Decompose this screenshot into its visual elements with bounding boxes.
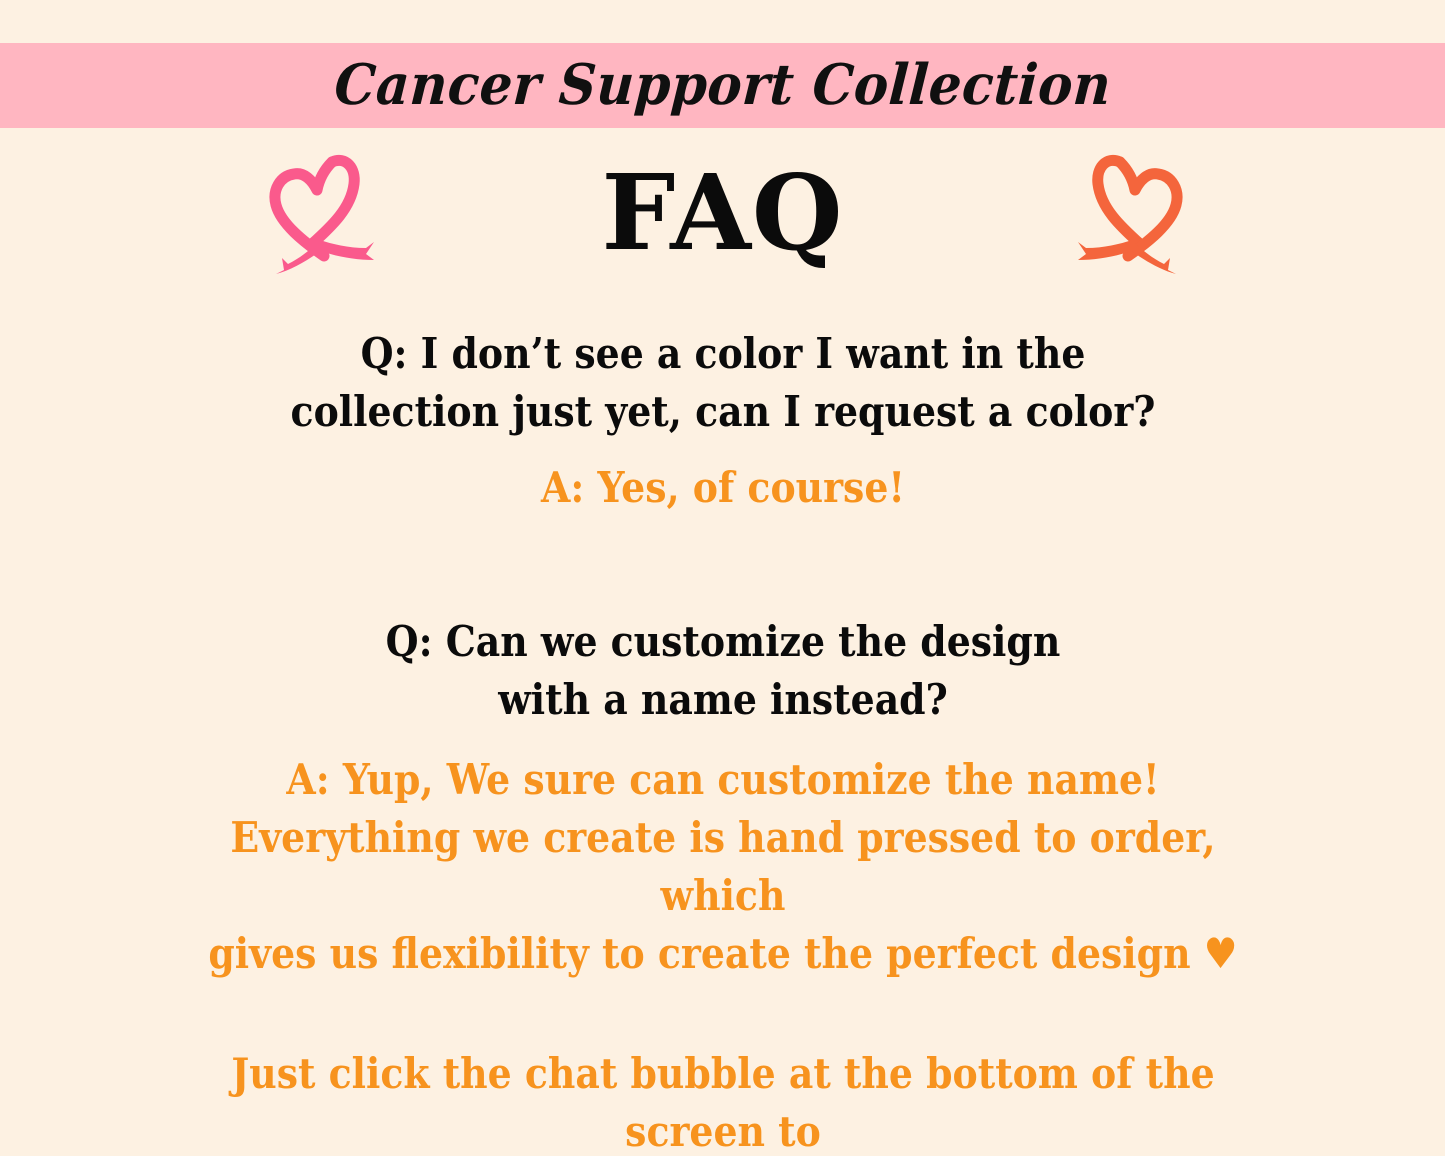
faq-question-2: Q: Can we customize the design with a na… bbox=[133, 613, 1313, 729]
faq-question-2-text: Q: Can we customize the design with a na… bbox=[192, 613, 1254, 729]
faq-question-1-text: Q: I don’t see a color I want in the col… bbox=[192, 325, 1254, 441]
faq-question-1: Q: I don’t see a color I want in the col… bbox=[133, 325, 1313, 441]
collection-banner: Cancer Support Collection bbox=[0, 43, 1445, 128]
faq-answer-1-text: A: Yes, of course! bbox=[192, 459, 1254, 517]
faq-content: Q: I don’t see a color I want in the col… bbox=[0, 325, 1445, 1156]
faq-answer-2: A: Yup, We sure can customize the name! … bbox=[133, 751, 1313, 983]
chat-instruction: Just click the chat bubble at the bottom… bbox=[133, 1045, 1313, 1156]
faq-answer-2-text: A: Yup, We sure can customize the name! … bbox=[192, 751, 1254, 983]
faq-answer-1: A: Yes, of course! bbox=[133, 459, 1313, 517]
page-title: FAQ bbox=[0, 158, 1445, 267]
collection-banner-title: Cancer Support Collection bbox=[333, 57, 1113, 113]
faq-graphic: Cancer Support Collection bbox=[0, 0, 1445, 1156]
chat-instruction-text: Just click the chat bubble at the bottom… bbox=[192, 1045, 1254, 1156]
